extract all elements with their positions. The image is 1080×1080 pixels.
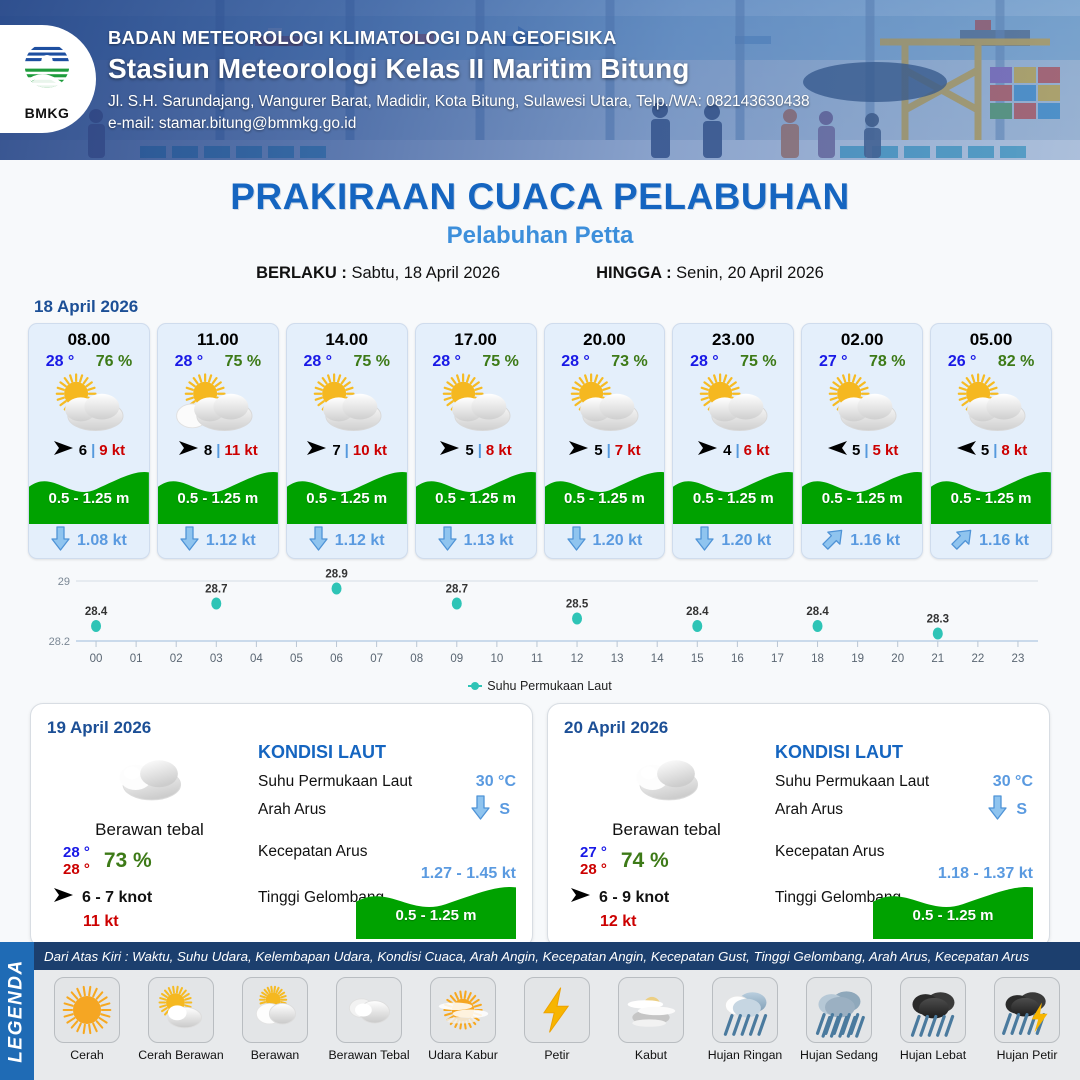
- weather-condition-icon: [29, 373, 149, 435]
- daily-forecast-panels: 19 April 2026 Berawan tebal 28 ° 28 ° 73…: [0, 693, 1080, 948]
- gust-speed: 5 kt: [873, 442, 899, 459]
- current-row: 1.12 kt: [158, 524, 278, 558]
- sea-conditions: KONDISI LAUT Suhu Permukaan Laut 30 °C A…: [252, 718, 516, 937]
- svg-text:15: 15: [691, 653, 704, 665]
- temperature-range: 28 ° 28 °: [63, 844, 90, 878]
- svg-text:14: 14: [651, 653, 664, 665]
- clouds-icon: [336, 977, 402, 1043]
- svg-text:18: 18: [811, 653, 824, 665]
- wind-row: 8 | 11 kt: [158, 437, 278, 463]
- sea-conditions-title: KONDISI LAUT: [258, 742, 516, 763]
- svg-text:17: 17: [771, 653, 784, 665]
- wind-separator: |: [345, 442, 349, 459]
- current-direction-row: Arah Arus S: [258, 801, 516, 819]
- legend-item-label: Petir: [514, 1048, 600, 1062]
- forecast-time: 05.00: [931, 330, 1051, 350]
- svg-text:07: 07: [370, 653, 383, 665]
- wind-separator: |: [216, 442, 220, 459]
- svg-text:22: 22: [971, 653, 984, 665]
- day-humidity: 73 %: [104, 849, 152, 873]
- day-summary: 20 April 2026 Berawan tebal 27 ° 28 ° 74…: [564, 718, 769, 937]
- current-row: 1.16 kt: [802, 524, 922, 558]
- wind-row: 5 | 8 kt: [416, 437, 536, 463]
- svg-text:03: 03: [210, 653, 223, 665]
- current-speed: 1.12 kt: [206, 532, 256, 550]
- chart-legend-marker-icon: [468, 680, 482, 692]
- station-name: Stasiun Meteorologi Kelas II Maritim Bit…: [108, 53, 810, 85]
- wave-height-value: 0.5 - 1.25 m: [931, 490, 1051, 507]
- wind-direction-arrow-icon: [53, 439, 75, 462]
- forecast-card: 02.00 27 ° 78 % 5 | 5 kt: [801, 323, 923, 559]
- legend-item: Kabut: [608, 977, 694, 1062]
- daily-forecast-card: 19 April 2026 Berawan tebal 28 ° 28 ° 73…: [30, 703, 533, 948]
- wave-height-value: 0.5 - 1.25 m: [416, 490, 536, 507]
- svg-text:20: 20: [891, 653, 904, 665]
- current-speed-row: Kecepatan Arus: [775, 843, 1033, 861]
- gust-speed: 8 kt: [1001, 442, 1027, 459]
- berlaku-group: BERLAKU : Sabtu, 18 April 2026: [256, 264, 500, 283]
- sst-row: Suhu Permukaan Laut 30 °C: [775, 773, 1033, 791]
- svg-text:21: 21: [931, 653, 944, 665]
- wave-height-block: 0.5 - 1.25 m: [416, 464, 536, 524]
- weather-condition-icon: [545, 373, 665, 435]
- wind-separator: |: [478, 442, 482, 459]
- svg-text:28.4: 28.4: [85, 606, 108, 618]
- day-wave-badge: 0.5 - 1.25 m: [356, 879, 516, 935]
- forecast-time: 17.00: [416, 330, 536, 350]
- forecast-card: 11.00 28 ° 75 % 8 | 11 kt: [157, 323, 279, 559]
- current-speed: 1.16 kt: [850, 532, 900, 550]
- wind-speed: 5: [594, 442, 602, 459]
- legend-item: Hujan Petir: [984, 977, 1070, 1062]
- wind-direction-arrow-icon: [53, 886, 75, 909]
- svg-text:08: 08: [410, 653, 423, 665]
- wind-row: 5 | 5 kt: [802, 437, 922, 463]
- current-row: 1.12 kt: [287, 524, 407, 558]
- wave-height-block: 0.5 - 1.25 m: [158, 464, 278, 524]
- wind-row: 5 | 7 kt: [545, 437, 665, 463]
- wave-height-block: 0.5 - 1.25 m: [673, 464, 793, 524]
- weather-condition-icon: [158, 373, 278, 435]
- current-speed-row: Kecepatan Arus: [258, 843, 516, 861]
- sst-chart: 2928.20001020304050607080910111213141516…: [28, 569, 1052, 677]
- current-direction-label: Arah Arus: [775, 801, 843, 819]
- current-direction-group: S: [471, 795, 510, 825]
- legend-item-label: Berawan: [232, 1048, 318, 1062]
- wind-direction-arrow-icon: [439, 439, 461, 462]
- svg-text:00: 00: [90, 653, 103, 665]
- gust-speed: 6 kt: [744, 442, 770, 459]
- svg-text:28.2: 28.2: [49, 636, 70, 648]
- legend-item: Cerah: [44, 977, 130, 1062]
- legend-item: Hujan Lebat: [890, 977, 976, 1062]
- forecast-time: 11.00: [158, 330, 278, 350]
- wind-speed: 6: [79, 442, 87, 459]
- day-wave-value: 0.5 - 1.25 m: [356, 907, 516, 924]
- wave-height-value: 0.5 - 1.25 m: [802, 490, 922, 507]
- current-direction-arrow-icon: [471, 795, 490, 825]
- day-summary: 19 April 2026 Berawan tebal 28 ° 28 ° 73…: [47, 718, 252, 937]
- wind-speed: 5: [465, 442, 473, 459]
- svg-text:19: 19: [851, 653, 864, 665]
- day-gust-speed: 11 kt: [47, 913, 252, 931]
- current-speed: 1.08 kt: [77, 532, 127, 550]
- legend-item: Cerah Berawan: [138, 977, 224, 1062]
- sea-conditions-title: KONDISI LAUT: [775, 742, 1033, 763]
- weather-condition-icon: [416, 373, 536, 435]
- wind-row: 7 | 10 kt: [287, 437, 407, 463]
- forecast-time: 14.00: [287, 330, 407, 350]
- haze-icon: [430, 977, 496, 1043]
- gust-speed: 11 kt: [224, 442, 257, 459]
- wind-speed: 4: [723, 442, 731, 459]
- wave-height-block: 0.5 - 1.25 m: [29, 464, 149, 524]
- sst-value: 30 °C: [476, 773, 516, 791]
- svg-text:28.4: 28.4: [686, 606, 709, 618]
- current-direction-label: Arah Arus: [258, 801, 326, 819]
- light-rain-icon: [712, 977, 778, 1043]
- cloud-sun-icon: [242, 977, 308, 1043]
- svg-text:28.7: 28.7: [446, 584, 468, 596]
- svg-text:28.7: 28.7: [205, 584, 227, 596]
- wave-height-block: 0.5 - 1.25 m: [287, 464, 407, 524]
- wind-separator: |: [91, 442, 95, 459]
- current-speed-label: Kecepatan Arus: [258, 843, 367, 861]
- day-date: 20 April 2026: [564, 718, 769, 738]
- fog-icon: [618, 977, 684, 1043]
- daily-forecast-card: 20 April 2026 Berawan tebal 27 ° 28 ° 74…: [547, 703, 1050, 948]
- bmkg-logo-text: BMKG: [12, 105, 82, 121]
- legend-item: Petir: [514, 977, 600, 1062]
- current-row: 1.20 kt: [673, 524, 793, 558]
- wind-direction-arrow-icon: [178, 439, 200, 462]
- day-condition-icon: [564, 746, 769, 808]
- current-row: 1.20 kt: [545, 524, 665, 558]
- hingga-group: HINGGA : Senin, 20 April 2026: [596, 264, 824, 283]
- legend-side-label: LEGENDA: [6, 959, 28, 1062]
- hingga-label: HINGGA :: [596, 264, 671, 282]
- berlaku-label: BERLAKU :: [256, 264, 347, 282]
- forecast-card: 08.00 28 ° 76 % 6 | 9 kt: [28, 323, 150, 559]
- wind-speed: 8: [204, 442, 212, 459]
- forecast-card: 23.00 28 ° 75 % 4 | 6 kt: [672, 323, 794, 559]
- gust-speed: 9 kt: [99, 442, 125, 459]
- wind-direction-arrow-icon: [568, 439, 590, 462]
- svg-text:28.4: 28.4: [806, 606, 829, 618]
- svg-text:09: 09: [450, 653, 463, 665]
- svg-text:04: 04: [250, 653, 263, 665]
- day-wind-speed: 6 - 7 knot: [82, 889, 152, 907]
- current-direction-arrow-icon: [567, 526, 586, 556]
- svg-text:28.3: 28.3: [927, 614, 949, 626]
- day-humidity: 74 %: [621, 849, 669, 873]
- current-row: 1.13 kt: [416, 524, 536, 558]
- wind-speed: 7: [332, 442, 340, 459]
- wave-height-value: 0.5 - 1.25 m: [545, 490, 665, 507]
- current-direction-value: S: [1016, 801, 1027, 819]
- day-wind-row: 6 - 7 knot: [47, 886, 252, 909]
- legend-item: Hujan Ringan: [702, 977, 788, 1062]
- current-speed: 1.16 kt: [979, 532, 1029, 550]
- sun-icon: [54, 977, 120, 1043]
- current-direction-arrow-icon: [953, 526, 972, 556]
- wind-speed: 5: [981, 442, 989, 459]
- svg-text:12: 12: [571, 653, 584, 665]
- header-text-block: BADAN METEOROLOGI KLIMATOLOGI DAN GEOFIS…: [108, 27, 810, 133]
- current-direction-group: S: [988, 795, 1027, 825]
- legend-item-label: Cerah Berawan: [138, 1048, 224, 1062]
- validity-row: BERLAKU : Sabtu, 18 April 2026 HINGGA : …: [0, 264, 1080, 283]
- current-speed: 1.20 kt: [593, 532, 643, 550]
- day-date: 19 April 2026: [47, 718, 252, 738]
- day-wind-row: 6 - 9 knot: [564, 886, 769, 909]
- current-speed: 1.13 kt: [464, 532, 514, 550]
- page-header: BMKG BADAN METEOROLOGI KLIMATOLOGI DAN G…: [0, 0, 1080, 160]
- weather-condition-icon: [931, 373, 1051, 435]
- sun-cloud-icon: [148, 977, 214, 1043]
- chart-legend-label: Suhu Permukaan Laut: [487, 679, 611, 693]
- station-address: Jl. S.H. Sarundajang, Wangurer Barat, Ma…: [108, 93, 810, 111]
- legend-item: Berawan Tebal: [326, 977, 412, 1062]
- current-direction-arrow-icon: [824, 526, 843, 556]
- svg-text:29: 29: [58, 576, 70, 588]
- svg-text:13: 13: [611, 653, 624, 665]
- day-condition-label: Berawan tebal: [564, 820, 769, 840]
- sst-label: Suhu Permukaan Laut: [258, 773, 412, 791]
- weather-condition-icon: [287, 373, 407, 435]
- current-speed: 1.20 kt: [721, 532, 771, 550]
- legend-item-label: Berawan Tebal: [326, 1048, 412, 1062]
- legend-item: Hujan Sedang: [796, 977, 882, 1062]
- wind-separator: |: [864, 442, 868, 459]
- legend-side-tab: LEGENDA: [0, 942, 34, 1080]
- svg-text:05: 05: [290, 653, 303, 665]
- wind-direction-arrow-icon: [306, 439, 328, 462]
- weather-condition-icon: [673, 373, 793, 435]
- svg-text:02: 02: [170, 653, 183, 665]
- temperature-max: 28 °: [63, 844, 90, 861]
- current-row: 1.16 kt: [931, 524, 1051, 558]
- lightning-icon: [524, 977, 590, 1043]
- hingga-value: Senin, 20 April 2026: [676, 264, 824, 282]
- current-direction-value: S: [499, 801, 510, 819]
- wind-separator: |: [735, 442, 739, 459]
- temperature-max: 27 °: [580, 844, 607, 861]
- bmkg-emblem-icon: [16, 37, 78, 99]
- weather-condition-icon: [802, 373, 922, 435]
- day-wave-value: 0.5 - 1.25 m: [873, 907, 1033, 924]
- gust-speed: 10 kt: [353, 442, 387, 459]
- legend-item-label: Hujan Sedang: [796, 1048, 882, 1062]
- sst-row: Suhu Permukaan Laut 30 °C: [258, 773, 516, 791]
- gust-speed: 8 kt: [486, 442, 512, 459]
- legend-item-label: Kabut: [608, 1048, 694, 1062]
- wave-height-value: 0.5 - 1.25 m: [29, 490, 149, 507]
- forecast-date-label: 18 April 2026: [34, 297, 1080, 317]
- day-condition-label: Berawan tebal: [47, 820, 252, 840]
- svg-text:01: 01: [130, 653, 143, 665]
- hourly-forecast-strip: 08.00 28 ° 76 % 6 | 9 kt: [0, 323, 1080, 559]
- svg-text:28.9: 28.9: [325, 569, 347, 581]
- forecast-card: 17.00 28 ° 75 % 5 | 8 kt: [415, 323, 537, 559]
- wave-height-block: 0.5 - 1.25 m: [931, 464, 1051, 524]
- wind-row: 4 | 6 kt: [673, 437, 793, 463]
- day-temperature-group: 27 ° 28 ° 74 %: [564, 844, 769, 878]
- wave-height-value: 0.5 - 1.25 m: [287, 490, 407, 507]
- wind-separator: |: [607, 442, 611, 459]
- thunderstorm-icon: [994, 977, 1060, 1043]
- current-direction-arrow-icon: [180, 526, 199, 556]
- current-row: 1.08 kt: [29, 524, 149, 558]
- wind-direction-arrow-icon: [826, 439, 848, 462]
- sst-chart-svg: 2928.20001020304050607080910111213141516…: [28, 569, 1052, 677]
- legend-item-label: Hujan Lebat: [890, 1048, 976, 1062]
- wind-separator: |: [993, 442, 997, 459]
- svg-text:11: 11: [531, 653, 543, 665]
- day-wind-speed: 6 - 9 knot: [599, 889, 669, 907]
- legend-note: Dari Atas Kiri : Waktu, Suhu Udara, Kele…: [34, 942, 1080, 970]
- bmkg-logo: BMKG: [0, 25, 96, 133]
- temperature-min: 28 °: [63, 861, 90, 878]
- current-direction-row: Arah Arus S: [775, 801, 1033, 819]
- page-title: PRAKIRAAN CUACA PELABUHAN: [0, 176, 1080, 218]
- wind-row: 5 | 8 kt: [931, 437, 1051, 463]
- sst-label: Suhu Permukaan Laut: [775, 773, 929, 791]
- day-condition-icon: [47, 746, 252, 808]
- current-direction-arrow-icon: [988, 795, 1007, 825]
- forecast-card: 05.00 26 ° 82 % 5 | 8 kt: [930, 323, 1052, 559]
- forecast-time: 20.00: [545, 330, 665, 350]
- station-email: e-mail: stamar.bitung@bmmkg.go.id: [108, 115, 810, 133]
- legend-item: Berawan: [232, 977, 318, 1062]
- heavy-rain-icon: [900, 977, 966, 1043]
- legend-item-label: Hujan Petir: [984, 1048, 1070, 1062]
- temperature-range: 27 ° 28 °: [580, 844, 607, 878]
- wind-direction-arrow-icon: [570, 886, 592, 909]
- current-speed-label: Kecepatan Arus: [775, 843, 884, 861]
- current-direction-arrow-icon: [438, 526, 457, 556]
- sst-value: 30 °C: [993, 773, 1033, 791]
- svg-text:23: 23: [1012, 653, 1025, 665]
- wind-direction-arrow-icon: [955, 439, 977, 462]
- chart-legend: Suhu Permukaan Laut: [0, 679, 1080, 693]
- svg-text:28.5: 28.5: [566, 599, 589, 611]
- temperature-min: 28 °: [580, 861, 607, 878]
- svg-text:06: 06: [330, 653, 343, 665]
- agency-name: BADAN METEOROLOGI KLIMATOLOGI DAN GEOFIS…: [108, 27, 810, 49]
- wind-row: 6 | 9 kt: [29, 437, 149, 463]
- legend-item: Udara Kabur: [420, 977, 506, 1062]
- legend-item-label: Cerah: [44, 1048, 130, 1062]
- wave-height-block: 0.5 - 1.25 m: [802, 464, 922, 524]
- current-direction-arrow-icon: [695, 526, 714, 556]
- forecast-card: 20.00 28 ° 73 % 5 | 7 kt: [544, 323, 666, 559]
- current-direction-arrow-icon: [309, 526, 328, 556]
- wind-speed: 5: [852, 442, 860, 459]
- legend-item-label: Hujan Ringan: [702, 1048, 788, 1062]
- current-speed: 1.12 kt: [335, 532, 385, 550]
- wind-direction-arrow-icon: [697, 439, 719, 462]
- wave-height-value: 0.5 - 1.25 m: [158, 490, 278, 507]
- current-direction-arrow-icon: [51, 526, 70, 556]
- forecast-card: 14.00 28 ° 75 % 7 | 10 kt: [286, 323, 408, 559]
- port-name: Pelabuhan Petta: [0, 222, 1080, 250]
- wave-height-block: 0.5 - 1.25 m: [545, 464, 665, 524]
- day-wave-badge: 0.5 - 1.25 m: [873, 879, 1033, 935]
- forecast-time: 08.00: [29, 330, 149, 350]
- svg-text:10: 10: [490, 653, 503, 665]
- svg-text:16: 16: [731, 653, 744, 665]
- wave-height-value: 0.5 - 1.25 m: [673, 490, 793, 507]
- forecast-time: 02.00: [802, 330, 922, 350]
- legend-item-label: Udara Kabur: [420, 1048, 506, 1062]
- gust-speed: 7 kt: [615, 442, 641, 459]
- berlaku-value: Sabtu, 18 April 2026: [351, 264, 500, 282]
- legend-bar: LEGENDA Dari Atas Kiri : Waktu, Suhu Uda…: [0, 942, 1080, 1080]
- legend-icon-list: Cerah Cerah Berawan Berawan Berawan Teba…: [34, 972, 1080, 1080]
- forecast-time: 23.00: [673, 330, 793, 350]
- day-temperature-group: 28 ° 28 ° 73 %: [47, 844, 252, 878]
- day-gust-speed: 12 kt: [564, 913, 769, 931]
- sea-conditions: KONDISI LAUT Suhu Permukaan Laut 30 °C A…: [769, 718, 1033, 937]
- moderate-rain-icon: [806, 977, 872, 1043]
